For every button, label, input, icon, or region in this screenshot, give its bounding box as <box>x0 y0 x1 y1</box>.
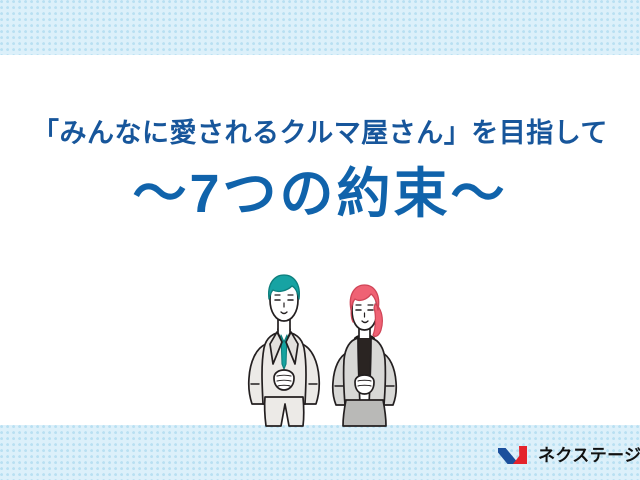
person-left <box>249 275 320 426</box>
slide-canvas: 「みんなに愛されるクルマ屋さん」を目指して 〜7つの約束〜 <box>0 0 640 480</box>
person-right <box>333 285 397 426</box>
headline-primary-text: 「みんなに愛されるクルマ屋さん」を目指して <box>0 118 640 149</box>
brand-logo: ネクステージ <box>497 440 640 470</box>
headline-block: 「みんなに愛されるクルマ屋さん」を目指して 〜7つの約束〜 <box>0 118 640 225</box>
nexstage-n-mark-icon <box>497 443 531 467</box>
headline-secondary-text: 〜7つの約束〜 <box>0 163 640 225</box>
top-dot-band <box>0 0 640 55</box>
brand-wordmark: ネクステージ <box>538 447 640 464</box>
staff-illustration <box>240 272 412 428</box>
